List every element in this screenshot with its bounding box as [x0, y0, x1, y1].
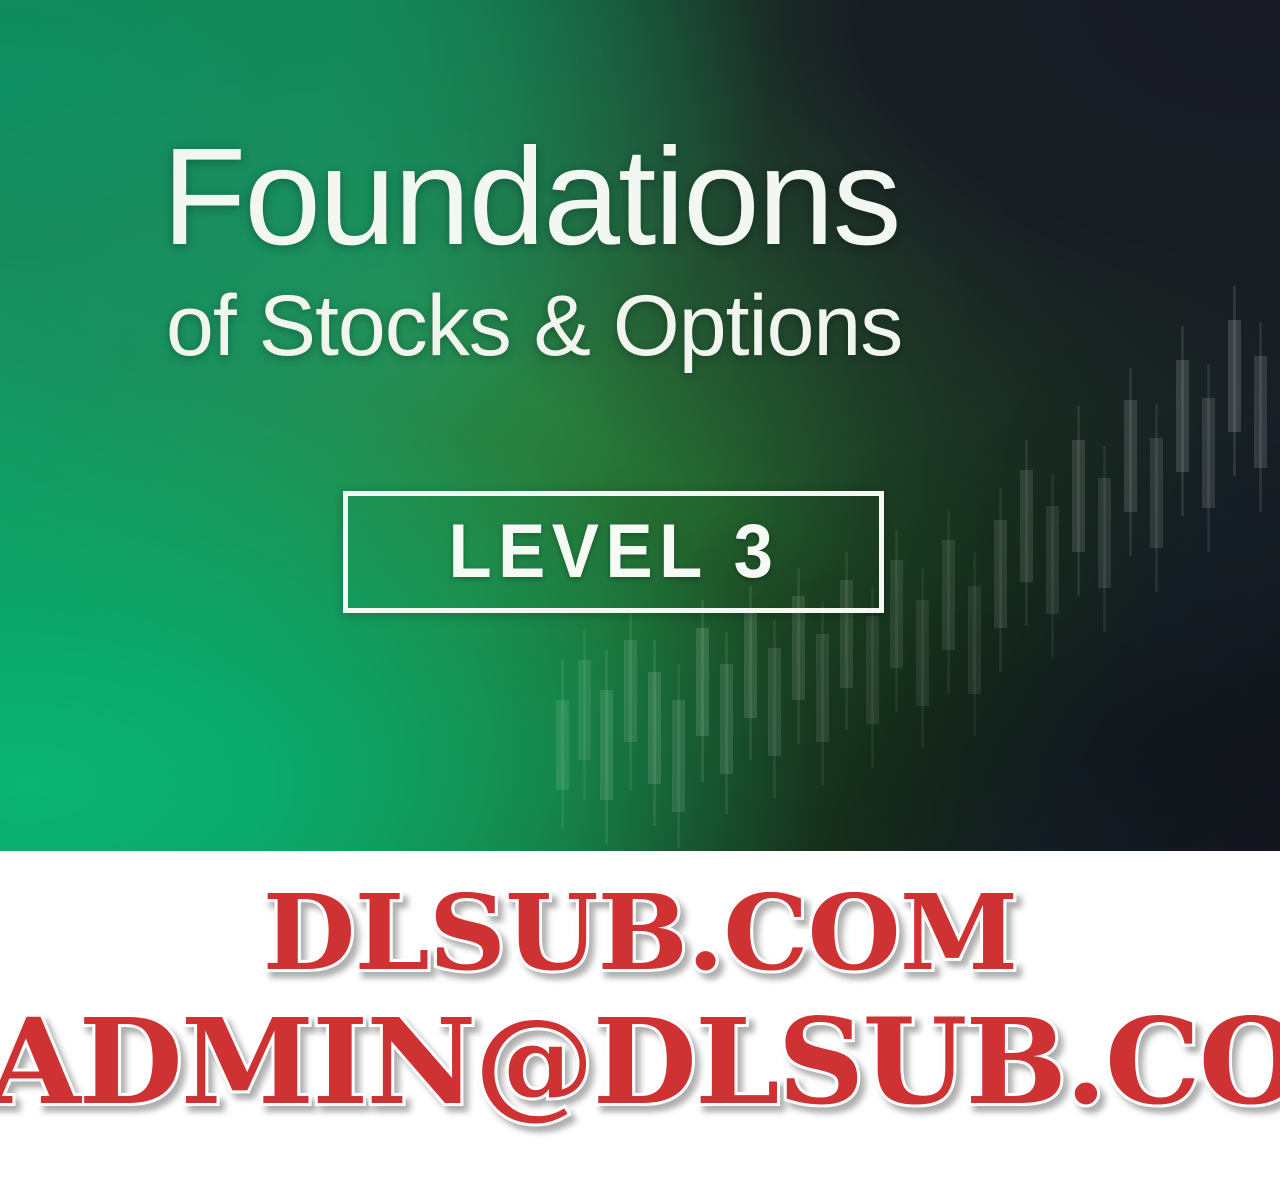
watermark-site-url: DLSUB.COM [0, 881, 1280, 985]
banner-headline-block: Foundations of Stocks & Options LEVEL 3 [0, 0, 1280, 851]
course-banner: Foundations of Stocks & Options LEVEL 3 [0, 0, 1280, 851]
watermark-contact-email: ADMIN@DLSUB.COM [0, 1003, 1280, 1121]
page-title: Foundations [162, 128, 1162, 266]
watermark-strip: DLSUB.COM ADMIN@DLSUB.COM [0, 851, 1280, 1188]
level-badge: LEVEL 3 [343, 491, 884, 613]
level-badge-label: LEVEL 3 [448, 514, 779, 590]
page-subtitle: of Stocks & Options [166, 283, 1186, 369]
